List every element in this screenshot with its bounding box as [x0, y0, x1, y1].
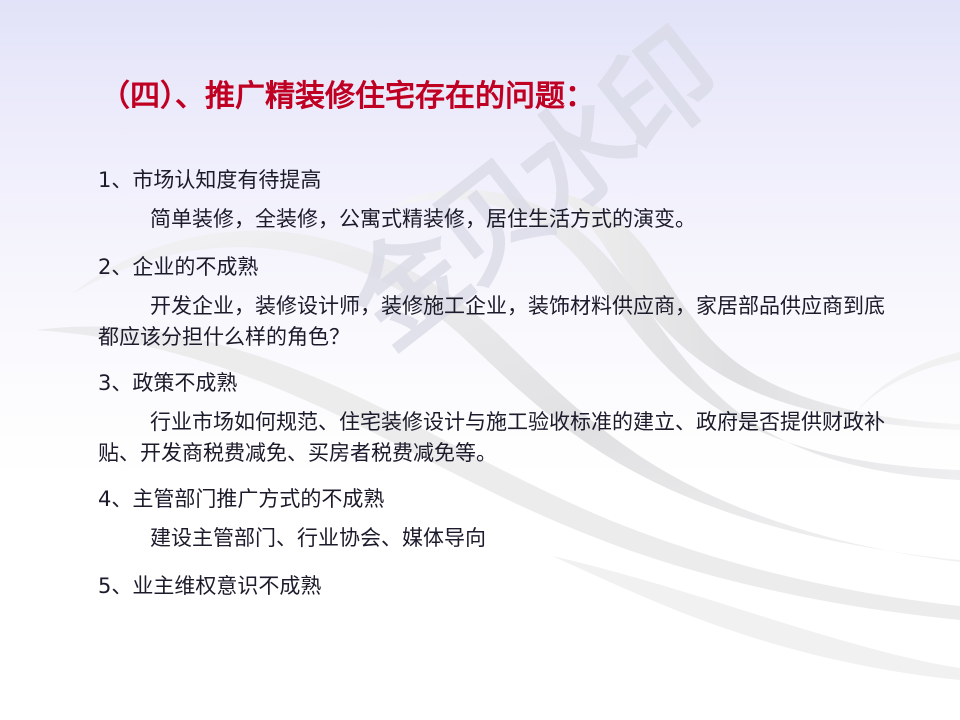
- page-title: （四）、推广精装修住宅存在的问题：: [100, 78, 595, 116]
- slide-body: 1、市场认知度有待提高 简单装修，全装修，公寓式精装修，居住生活方式的演变。 2…: [98, 160, 888, 606]
- list-item-heading-2: 2、企业的不成熟: [98, 247, 888, 287]
- list-item-detail-3: 行业市场如何规范、住宅装修设计与施工验收标准的建立、政府是否提供财政补贴、开发商…: [98, 407, 888, 469]
- list-item-heading-1: 1、市场认知度有待提高: [98, 160, 888, 200]
- list-item-detail-4: 建设主管部门、行业协会、媒体导向: [98, 523, 888, 554]
- list-item-heading-3: 3、政策不成熟: [98, 363, 888, 403]
- presentation-slide: 金贝水印 （四）、推广精装修住宅存在的问题： 1、市场认知度有待提高 简单装修，…: [0, 0, 960, 720]
- list-item-heading-4: 4、主管部门推广方式的不成熟: [98, 479, 888, 519]
- slide-content: （四）、推广精装修住宅存在的问题： 1、市场认知度有待提高 简单装修，全装修，公…: [0, 0, 960, 720]
- list-item-detail-2: 开发企业，装修设计师，装修施工企业，装饰材料供应商，家居部品供应商到底都应该分担…: [98, 291, 888, 353]
- list-item-detail-1: 简单装修，全装修，公寓式精装修，居住生活方式的演变。: [98, 204, 888, 235]
- list-item-heading-5: 5、业主维权意识不成熟: [98, 566, 888, 606]
